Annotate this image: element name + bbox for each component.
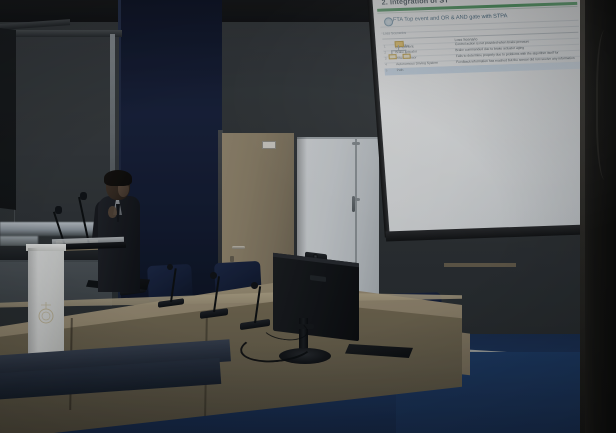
podium-emblem-logo xyxy=(36,300,56,326)
right-wall-highlight xyxy=(580,0,585,433)
window-side-panel xyxy=(0,28,16,210)
row-component: Path xyxy=(397,68,404,72)
door-sign xyxy=(262,141,276,149)
row-index: 5 xyxy=(386,69,388,73)
cabinet-handle[interactable] xyxy=(352,196,355,212)
table-caption: Loss Scenarios xyxy=(383,31,406,36)
door-top-trim xyxy=(444,263,516,267)
pillar-curve-detail xyxy=(596,30,616,180)
presentation-room-photo: 2. Integration of ST FTA Top event and O… xyxy=(0,0,616,433)
door-lock xyxy=(230,256,234,262)
podium-mic-head xyxy=(55,206,62,214)
blind-headrail xyxy=(12,30,122,37)
speaker-hair xyxy=(104,170,132,186)
table-side-labels: ····· xyxy=(377,44,380,67)
speaker-hand xyxy=(108,206,117,218)
desk-mic-head xyxy=(251,282,258,289)
cabinet-hinge-top xyxy=(352,142,360,145)
fta-gate-diagram-icon xyxy=(386,41,414,68)
desk-mic-head xyxy=(210,272,217,279)
podium-mic-head xyxy=(80,192,87,200)
projection-screen: 2. Integration of ST FTA Top event and O… xyxy=(372,0,602,245)
slide-surface: 2. Integration of ST FTA Top event and O… xyxy=(372,0,602,233)
door-handle[interactable] xyxy=(232,246,245,249)
desk-mic-head xyxy=(167,264,173,270)
